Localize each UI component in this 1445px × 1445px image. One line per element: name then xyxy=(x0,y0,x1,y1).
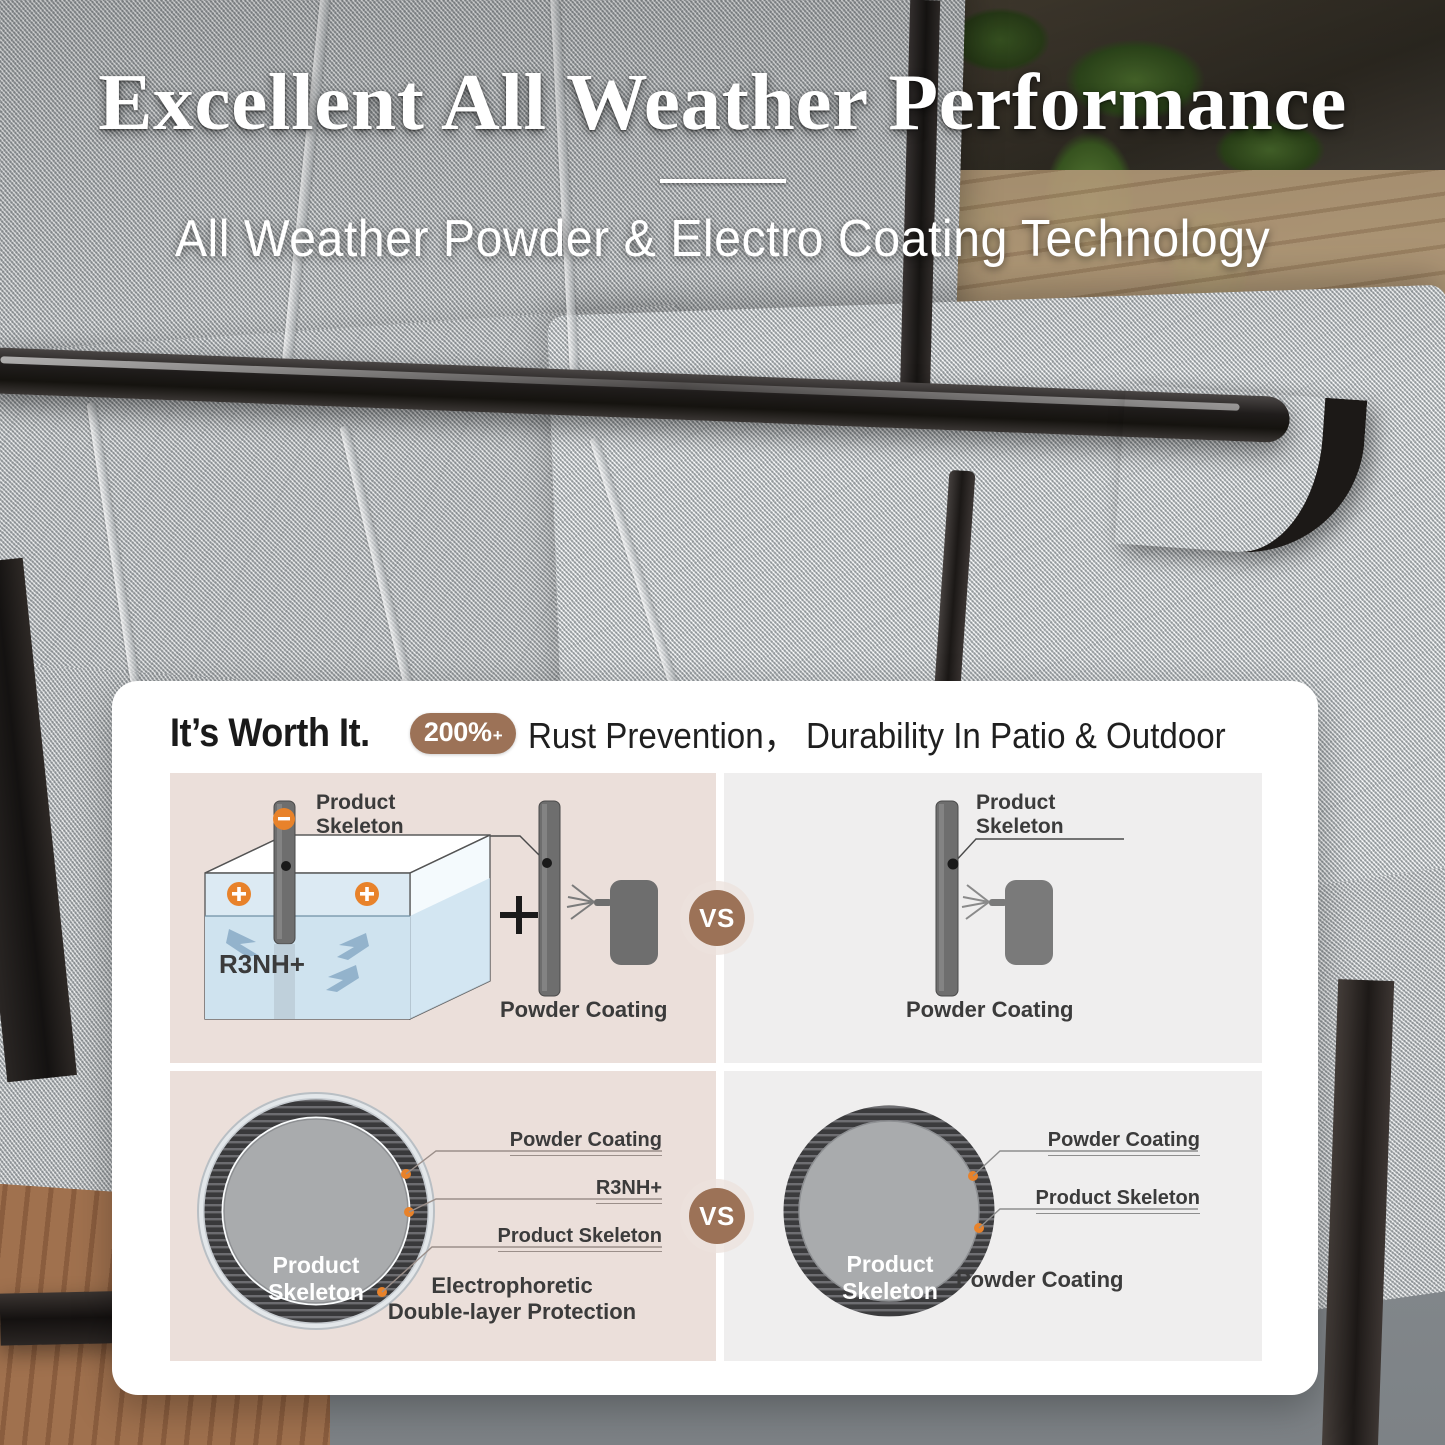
page-title: Excellent All Weather Performance xyxy=(0,0,1445,149)
callout-product-skeleton: Product Skeleton xyxy=(1036,1187,1200,1214)
product-skeleton-rod xyxy=(539,801,560,996)
product-skeleton-rod-immersed xyxy=(273,801,295,1019)
vs-badge-bottom: VS xyxy=(689,1188,745,1244)
leader-dot xyxy=(281,861,291,871)
panel-powder-only-section: Product Skeleton Powder Coating Product … xyxy=(724,1071,1262,1361)
leader-line xyxy=(953,839,1124,864)
spray-gun-icon xyxy=(962,880,1053,965)
panel-electro-process: R3NH+ xyxy=(170,773,716,1063)
page-subtitle: All Weather Powder & Electro Coating Tec… xyxy=(51,183,1395,269)
leader-dot xyxy=(542,858,552,868)
solution-label: R3NH+ xyxy=(219,949,305,979)
panel-caption: Electrophoretic Double-layer Protection xyxy=(322,1273,702,1326)
plus-symbol xyxy=(500,896,538,934)
comparison-grid: R3NH+ xyxy=(170,773,1262,1361)
card-heading-rest: Rust Prevention， Durability In Patio & O… xyxy=(528,707,1226,759)
panel-powder-process: Product Skeleton Powder Coating xyxy=(724,773,1262,1063)
callout-powder-coating: Powder Coating xyxy=(510,1129,662,1156)
comparison-card: It’s Worth It. 200%+ Rust Prevention， Du… xyxy=(112,681,1318,1395)
skeleton-label: Product Skeleton xyxy=(316,791,404,839)
infographic-stage: Excellent All Weather Performance All We… xyxy=(0,0,1445,1445)
powder-only-cross-section xyxy=(724,1071,1262,1361)
cathode-minus xyxy=(278,817,290,820)
badge-superscript: + xyxy=(493,726,503,746)
leader-dot xyxy=(948,859,959,870)
panel-double-layer-section: Product Skeleton Powder Coating R3NH+ Pr… xyxy=(170,1071,716,1361)
badge-value: 200% xyxy=(424,717,492,748)
product-skeleton-rod xyxy=(936,801,959,996)
header: Excellent All Weather Performance All We… xyxy=(0,0,1445,269)
vs-badge-top: VS xyxy=(689,890,745,946)
electro-tank xyxy=(205,835,490,1019)
card-heading-strong: It’s Worth It. xyxy=(170,711,370,756)
rust-prevention-badge: 200%+ xyxy=(410,713,517,754)
spray-gun-icon xyxy=(567,880,658,965)
callout-product-skeleton: Product Skeleton xyxy=(498,1225,662,1252)
card-heading: It’s Worth It. 200%+ Rust Prevention， Du… xyxy=(112,681,1318,759)
callout-powder-coating: Powder Coating xyxy=(1048,1129,1200,1156)
core-label: Product Skeleton xyxy=(830,1251,950,1304)
anode-marker-left xyxy=(227,882,251,906)
callout-r3nh: R3NH+ xyxy=(596,1177,662,1204)
panel-caption: Powder Coating xyxy=(906,997,1073,1023)
anode-marker-right xyxy=(355,882,379,906)
panel-caption: Powder Coating xyxy=(500,997,667,1023)
panel-caption: Powder Coating xyxy=(956,1267,1123,1293)
skeleton-label: Product Skeleton xyxy=(976,791,1064,839)
